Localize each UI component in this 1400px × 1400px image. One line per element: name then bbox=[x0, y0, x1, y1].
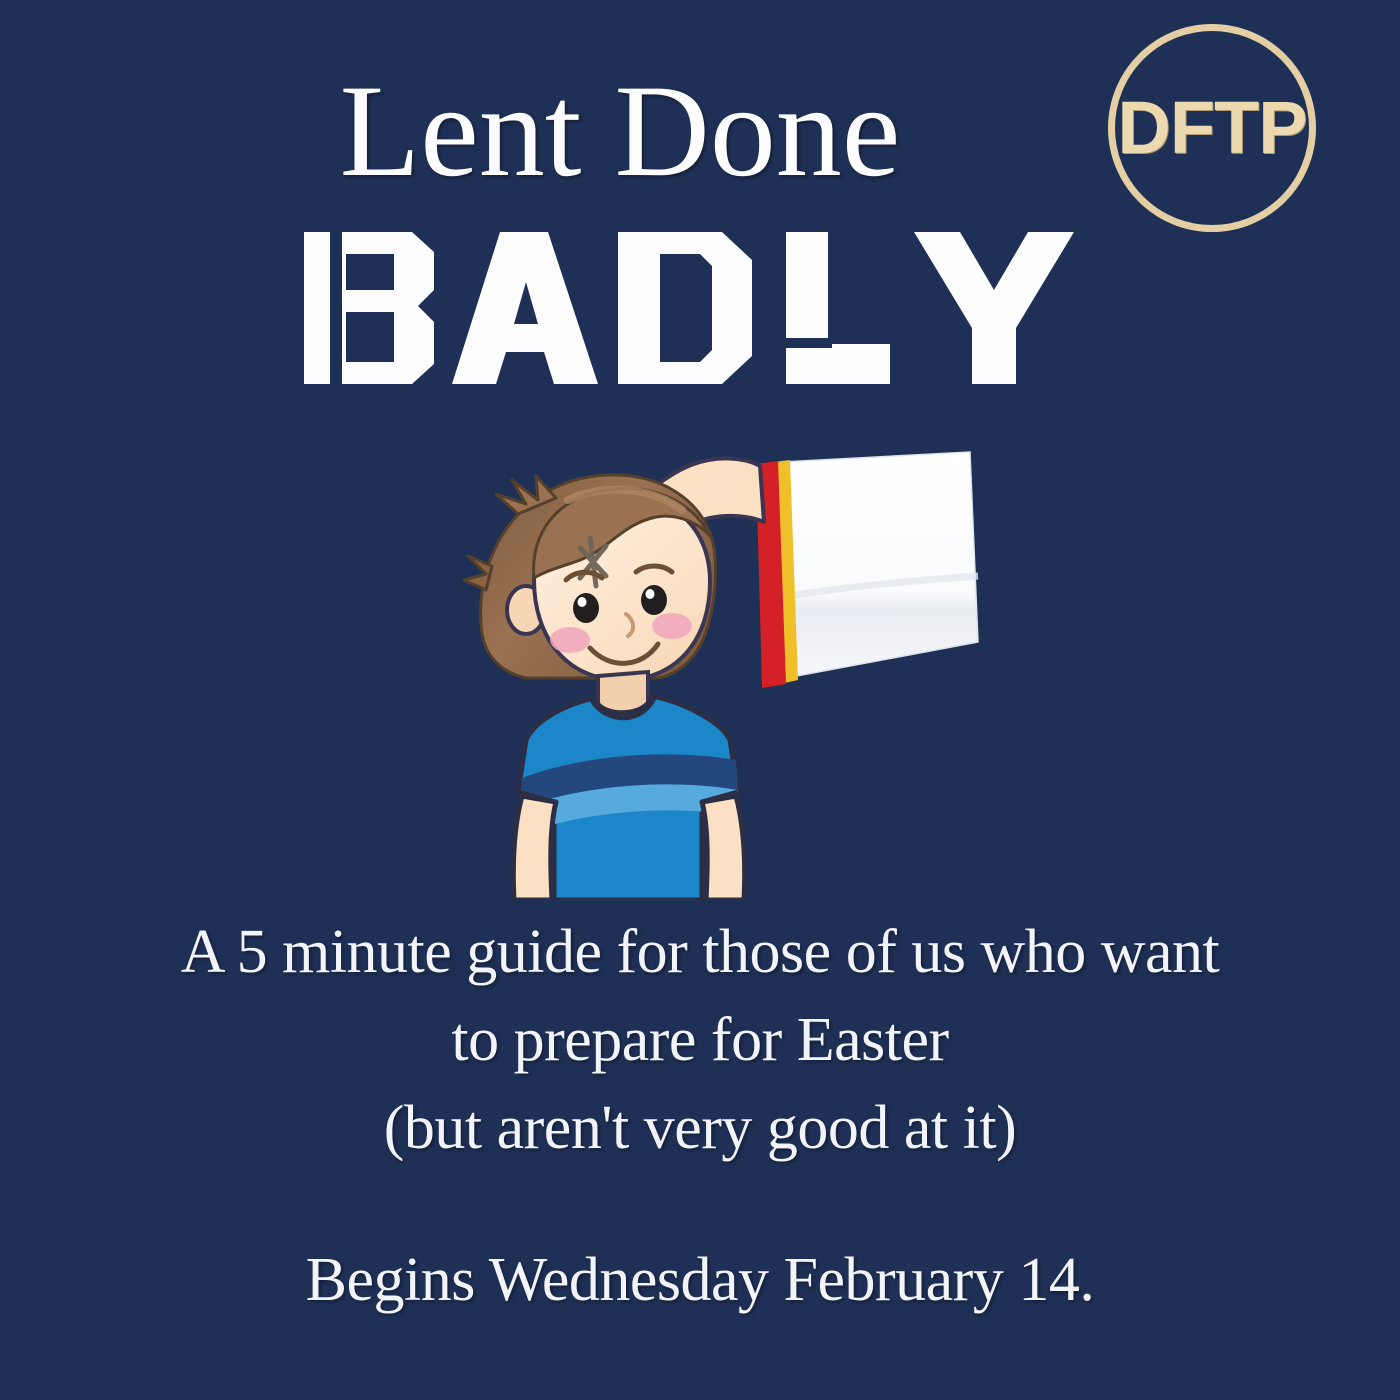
eye-left bbox=[573, 593, 599, 623]
poster-canvas: DFTP Lent Done bbox=[0, 0, 1400, 1400]
subtitle-line-3: (but aren't very good at it) bbox=[0, 1084, 1400, 1172]
arm-right bbox=[702, 796, 745, 900]
ash-wednesday-illustration bbox=[430, 430, 990, 900]
headline-primary: Lent Done bbox=[0, 62, 1400, 201]
arm-left bbox=[513, 796, 556, 900]
subtitle-line-1: A 5 minute guide for those of us who wan… bbox=[0, 908, 1400, 996]
priest-sleeve-group bbox=[756, 452, 978, 688]
start-date-text: Begins Wednesday February 14. bbox=[0, 1240, 1400, 1321]
cheek-right bbox=[652, 613, 692, 639]
subtitle-line-2: to prepare for Easter bbox=[0, 996, 1400, 1084]
cheek-left bbox=[550, 627, 590, 653]
headline-stencil-badly bbox=[0, 228, 1400, 388]
subtitle-block: A 5 minute guide for those of us who wan… bbox=[0, 908, 1400, 1172]
eye-right bbox=[641, 585, 667, 615]
